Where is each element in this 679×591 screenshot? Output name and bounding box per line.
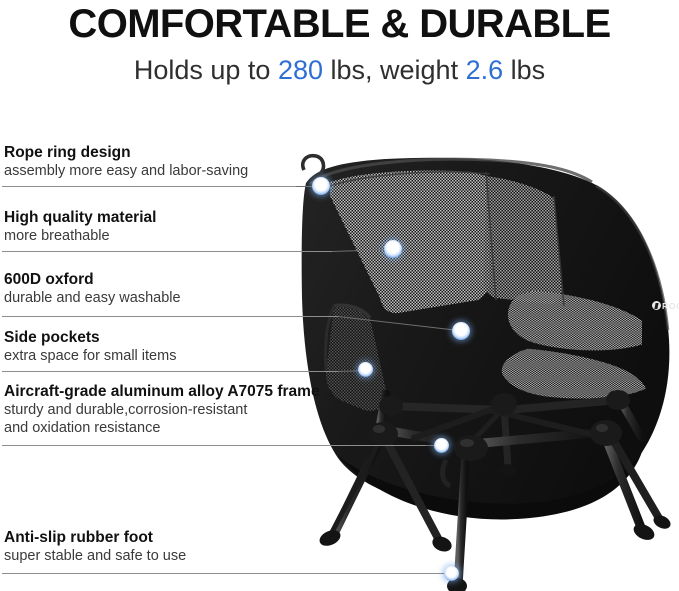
feature-title: Rope ring design: [4, 143, 248, 162]
feature-title: Aircraft-grade aluminum alloy A7075 fram…: [4, 382, 320, 401]
feature-divider: [2, 445, 426, 446]
feature-title: 600D oxford: [4, 270, 181, 289]
feature-side-pockets: Side pockets extra space for small items: [4, 328, 176, 365]
callout-dot-rope-ring: [312, 177, 330, 195]
callout-dot-600d-oxford: [452, 322, 470, 340]
feature-desc: extra space for small items: [4, 347, 176, 365]
callout-dot-anti-slip: [444, 566, 459, 581]
feature-title: Anti-slip rubber foot: [4, 528, 186, 547]
feature-desc-line2: and oxidation resistance: [4, 419, 320, 437]
feature-rope-ring-design: Rope ring design assembly more easy and …: [4, 143, 248, 180]
feature-desc: durable and easy washable: [4, 289, 181, 307]
feature-divider: [2, 316, 338, 317]
page-title: COMFORTABLE & DURABLE: [0, 2, 679, 46]
feature-desc: assembly more easy and labor-saving: [4, 162, 248, 180]
subtitle-suffix: lbs: [503, 55, 545, 85]
capacity-value: 280: [278, 55, 323, 85]
feature-title: High quality material: [4, 208, 156, 227]
weight-value: 2.6: [466, 55, 504, 85]
product-image-camping-chair: ROCK CLOUD A7075: [290, 138, 679, 591]
subtitle-prefix: Holds up to: [134, 55, 278, 85]
feature-high-quality-material: High quality material more breathable: [4, 208, 156, 245]
feature-divider: [2, 251, 332, 252]
feature-desc: sturdy and durable,corrosion-resistant: [4, 401, 320, 419]
page-subtitle: Holds up to 280 lbs, weight 2.6 lbs: [0, 54, 679, 86]
feature-anti-slip-rubber-foot: Anti-slip rubber foot super stable and s…: [4, 528, 186, 565]
callout-dot-high-quality: [384, 240, 402, 258]
brand-logo-mark: [652, 301, 661, 310]
brand-name: ROCK CLOUD: [662, 301, 679, 311]
feature-600d-oxford: 600D oxford durable and easy washable: [4, 270, 181, 307]
subtitle-mid: lbs, weight: [323, 55, 466, 85]
callout-dot-side-pockets: [358, 362, 373, 377]
feature-desc: more breathable: [4, 227, 156, 245]
feature-divider: [2, 371, 338, 372]
infographic-canvas: COMFORTABLE & DURABLE Holds up to 280 lb…: [0, 0, 679, 591]
callout-dot-aluminum-frame: [434, 438, 449, 453]
feature-title: Side pockets: [4, 328, 176, 347]
feature-desc: super stable and safe to use: [4, 547, 186, 565]
feature-divider: [2, 573, 442, 574]
feature-aluminum-frame: Aircraft-grade aluminum alloy A7075 fram…: [4, 382, 320, 437]
feature-divider: [2, 186, 296, 187]
